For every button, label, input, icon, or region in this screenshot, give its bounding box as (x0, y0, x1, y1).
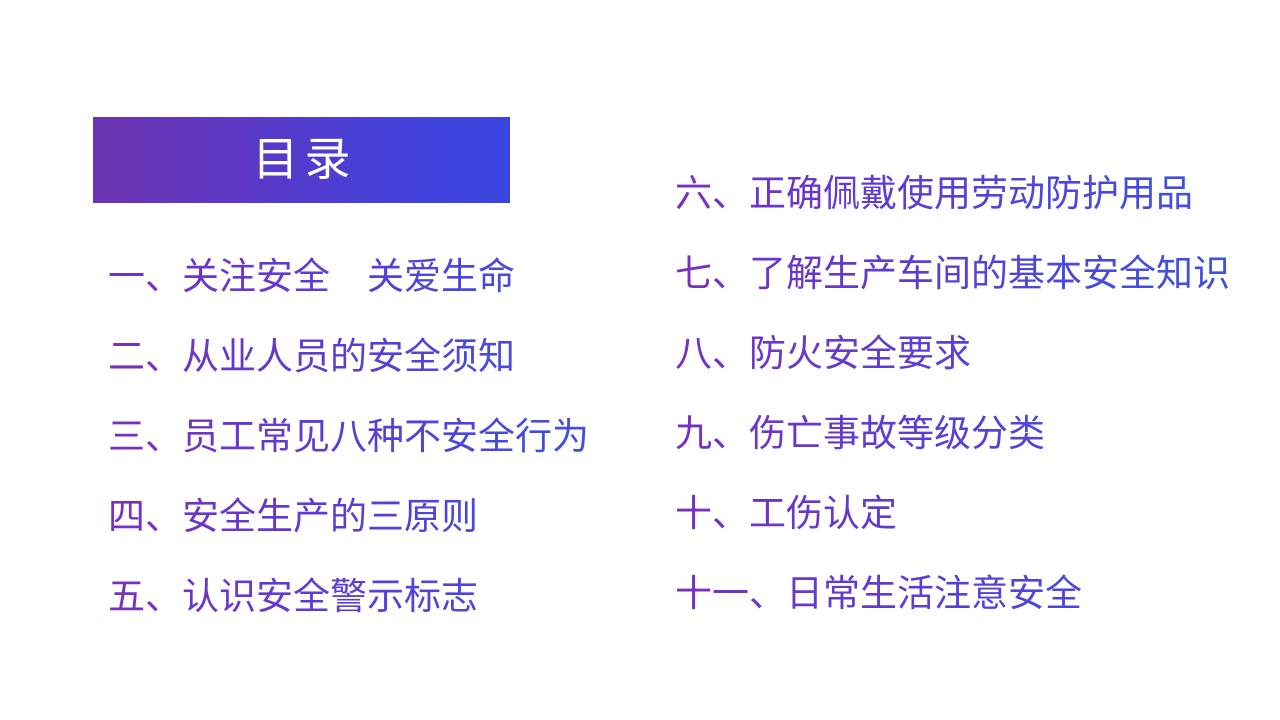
toc-item-5[interactable]: 五、认识安全警示标志 (108, 558, 638, 638)
toc-item-11[interactable]: 十一、日常生活注意安全 (675, 555, 1255, 635)
toc-item-10[interactable]: 十、工伤认定 (675, 475, 1255, 555)
toc-slide: 目录 一、关注安全 关爱生命 二、从业人员的安全须知 三、员工常见八种不安全行为… (0, 0, 1280, 720)
toc-item-7[interactable]: 七、了解生产车间的基本安全知识 (675, 235, 1255, 315)
toc-item-2[interactable]: 二、从业人员的安全须知 (108, 318, 638, 398)
toc-item-6[interactable]: 六、正确佩戴使用劳动防护用品 (675, 155, 1255, 235)
toc-item-1[interactable]: 一、关注安全 关爱生命 (108, 238, 638, 318)
page-title: 目录 (247, 137, 357, 183)
title-banner: 目录 (93, 117, 510, 203)
toc-column-left: 一、关注安全 关爱生命 二、从业人员的安全须知 三、员工常见八种不安全行为 四、… (108, 238, 638, 638)
toc-item-8[interactable]: 八、防火安全要求 (675, 315, 1255, 395)
toc-column-right: 六、正确佩戴使用劳动防护用品 七、了解生产车间的基本安全知识 八、防火安全要求 … (675, 155, 1255, 635)
toc-item-4[interactable]: 四、安全生产的三原则 (108, 478, 638, 558)
toc-item-9[interactable]: 九、伤亡事故等级分类 (675, 395, 1255, 475)
toc-item-3[interactable]: 三、员工常见八种不安全行为 (108, 398, 638, 478)
